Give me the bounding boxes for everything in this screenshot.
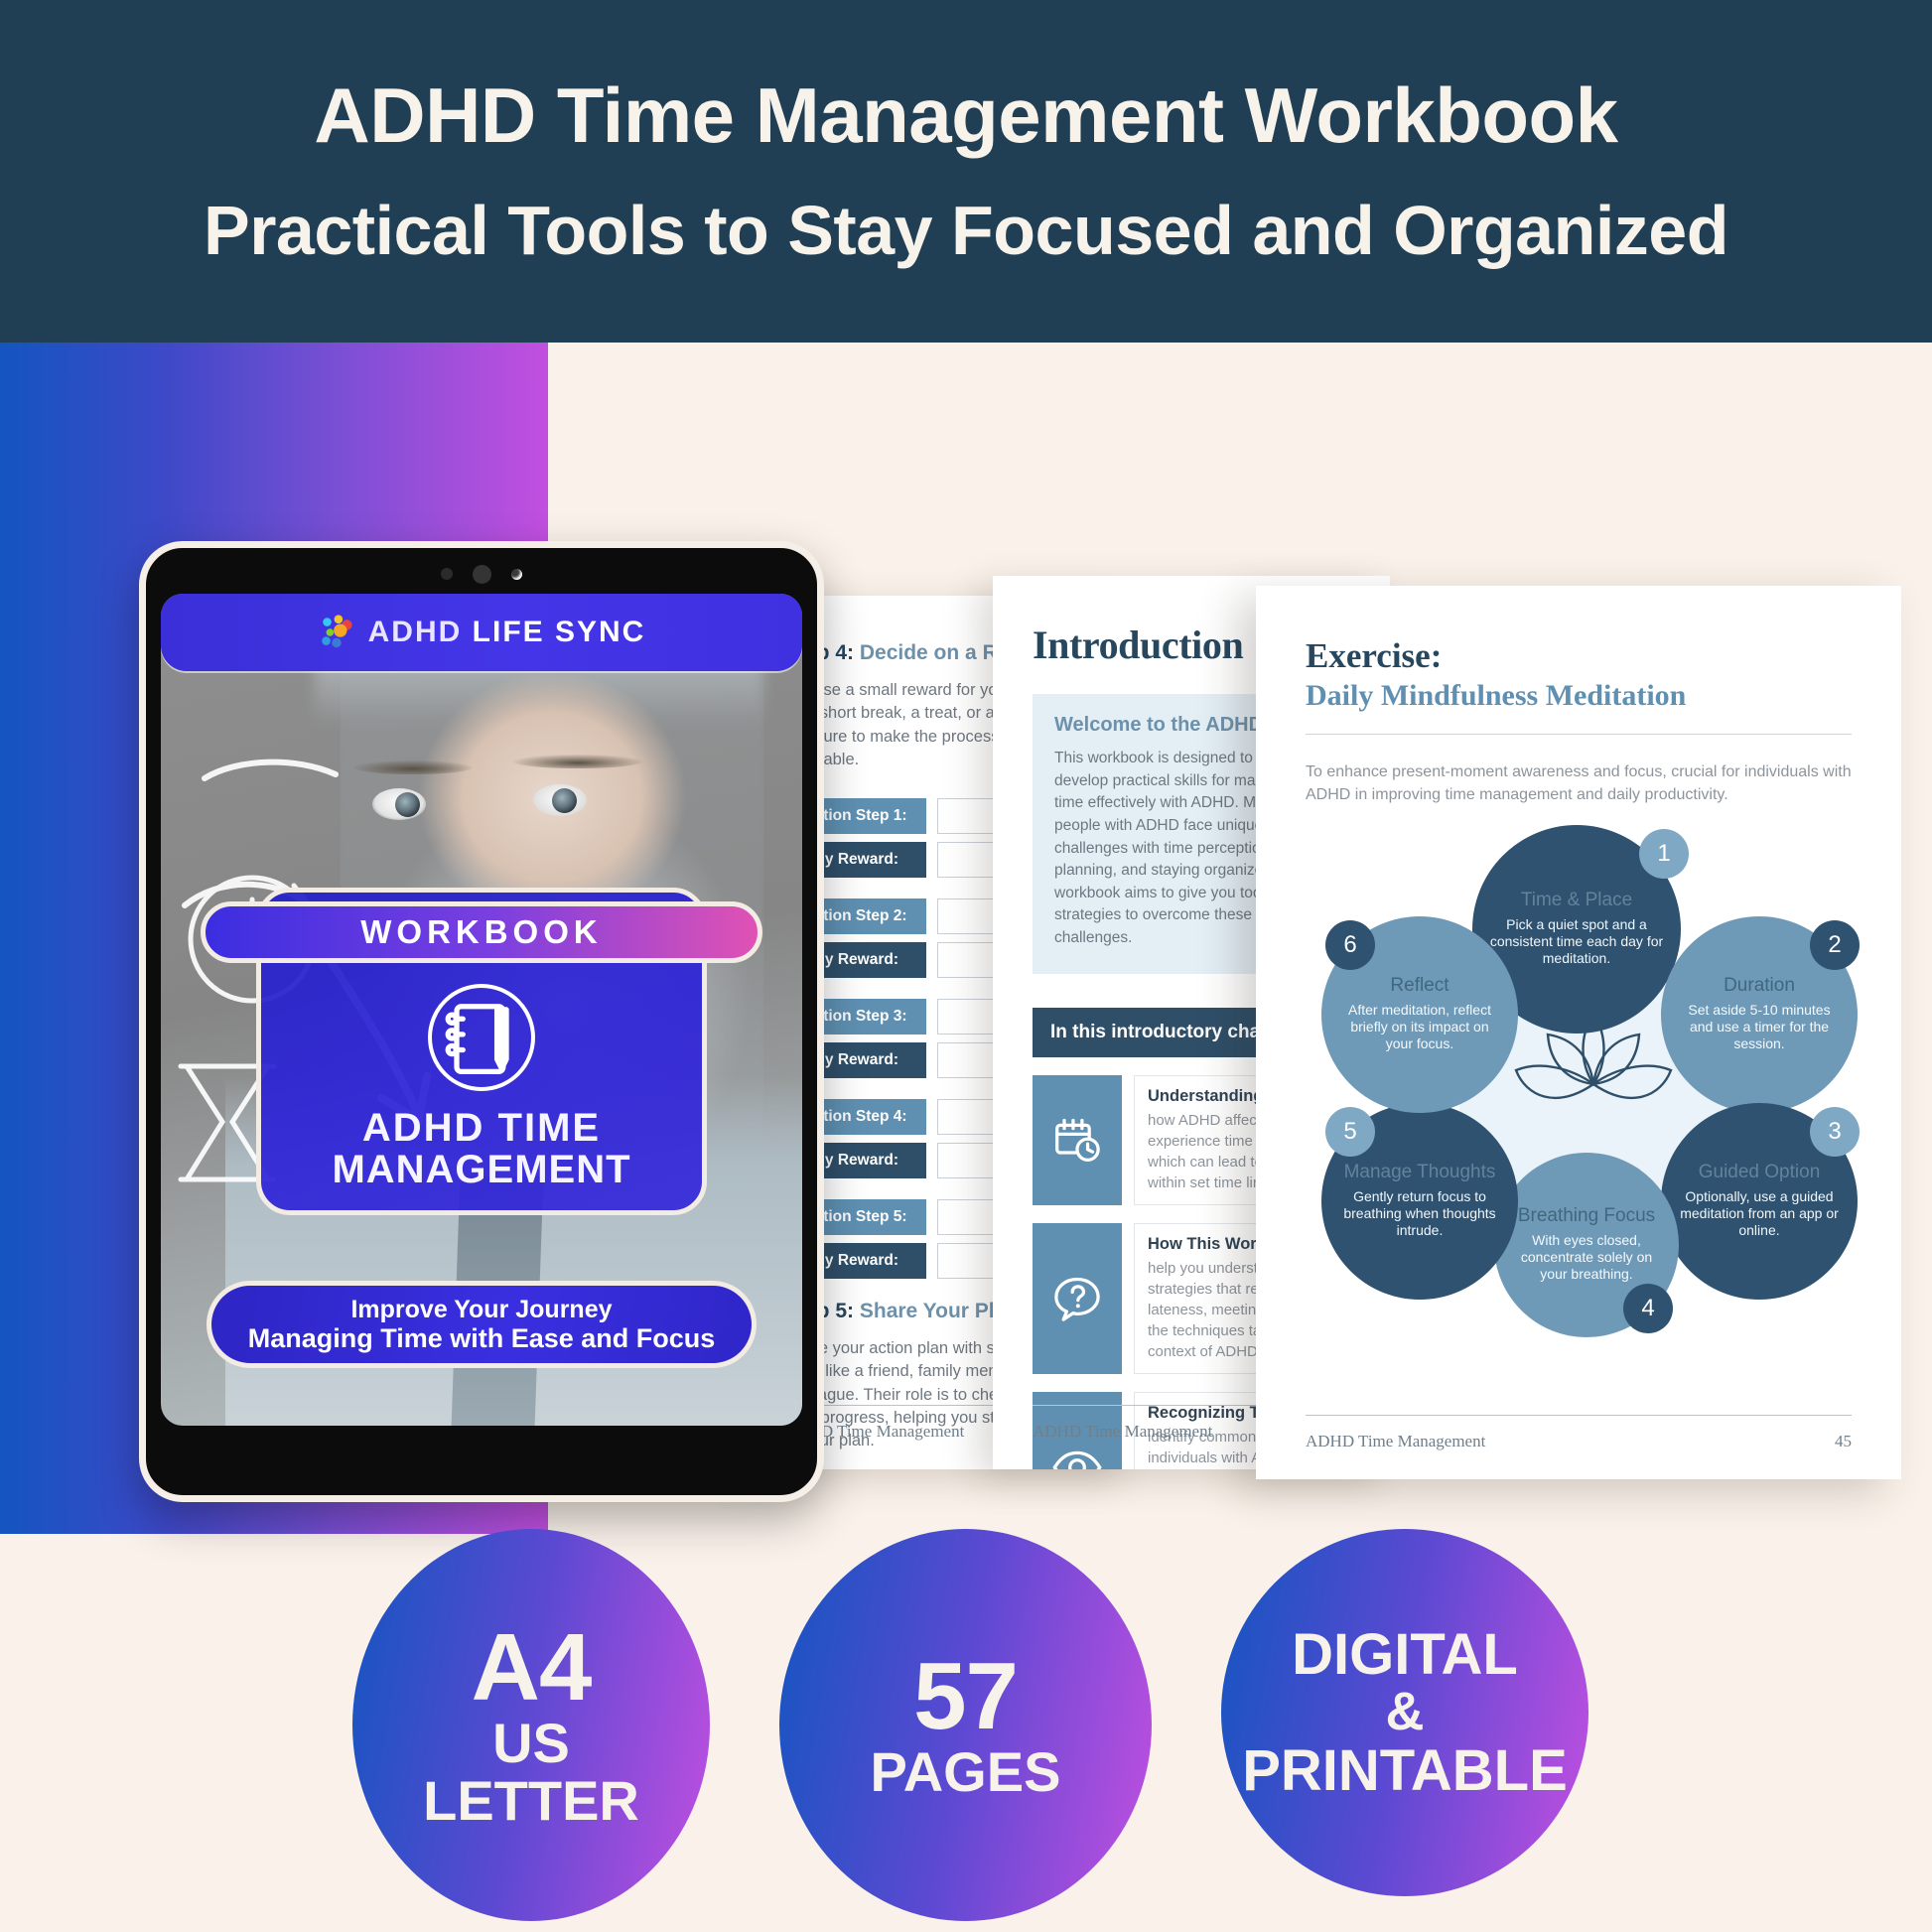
- node-title: Guided Option: [1699, 1163, 1821, 1183]
- calendar-clock-icon: [1033, 1075, 1122, 1205]
- title-divider: [1306, 734, 1852, 736]
- notebook-pen-icon: [428, 984, 535, 1091]
- node-number-badge: 2: [1810, 920, 1860, 970]
- badge-ampersand: &: [1386, 1684, 1425, 1740]
- photo-iris-left: [395, 792, 420, 817]
- header-banner: ADHD Time Management Workbook Practical …: [0, 0, 1932, 343]
- exercise-title: Exercise:: [1306, 637, 1852, 675]
- brand-bar: ADHD LIFE SYNC: [161, 594, 802, 671]
- node-title: Manage Thoughts: [1344, 1163, 1496, 1183]
- node-number-badge: 5: [1325, 1107, 1375, 1157]
- swoosh-doodle-icon: [197, 749, 345, 798]
- camera-lens-icon: [473, 565, 491, 584]
- page-footer-label: ADHD Time Management: [1033, 1422, 1212, 1442]
- badge-format-us: US: [492, 1715, 570, 1772]
- node-body: After meditation, reflect briefly on its…: [1337, 1002, 1502, 1052]
- workbook-label: WORKBOOK: [360, 913, 602, 951]
- footer-divider: [1306, 1415, 1852, 1417]
- badge-page-number: 57: [913, 1650, 1018, 1743]
- node-body: Optionally, use a guided meditation from…: [1677, 1188, 1842, 1239]
- page-footer-label: ADHD Time Management: [1306, 1432, 1485, 1451]
- node-body: Set aside 5-10 minutes and use a timer f…: [1677, 1002, 1842, 1052]
- badge-format-letter: LETTER: [423, 1772, 639, 1830]
- exercise-intro: To enhance present-moment awareness and …: [1306, 760, 1852, 806]
- node-body: Pick a quiet spot and a consistent time …: [1488, 916, 1665, 967]
- node-number-badge: 1: [1639, 829, 1689, 879]
- badge-format-size: A4: [472, 1621, 592, 1715]
- indicator-dot-icon: [511, 569, 522, 580]
- badge-delivery: DIGITAL & PRINTABLE: [1221, 1529, 1588, 1896]
- cover-tagline-pill: Improve Your Journey Managing Time with …: [207, 1281, 757, 1368]
- badge-format: A4 US LETTER: [352, 1529, 710, 1921]
- badge-pages-label: PAGES: [871, 1743, 1061, 1801]
- page-title: ADHD Time Management Workbook: [314, 75, 1617, 157]
- tablet-screen: ADHD LIFE SYNC ADHD TIME MANAGEMENT: [161, 594, 802, 1426]
- photo-iris-right: [552, 788, 577, 813]
- node-title: Time & Place: [1521, 891, 1632, 911]
- tablet-mockup: ADHD LIFE SYNC ADHD TIME MANAGEMENT: [139, 541, 824, 1502]
- node-title: Reflect: [1390, 976, 1449, 997]
- tagline-line2: Managing Time with Ease and Focus: [248, 1323, 716, 1353]
- exercise-subtitle: Daily Mindfulness Meditation: [1306, 679, 1852, 712]
- product-listing-image: ADHD Time Management Workbook Practical …: [0, 0, 1932, 1932]
- brand-name-suffix: LIFE SYNC: [473, 616, 646, 648]
- brand-name: ADHD LIFE SYNC: [368, 616, 646, 649]
- sensor-dot-icon: [441, 568, 453, 580]
- workbook-badge: WORKBOOK: [201, 901, 762, 963]
- tagline-line1: Improve Your Journey: [350, 1296, 612, 1323]
- node-number-badge: 4: [1623, 1284, 1673, 1333]
- photo-brow-right: [513, 755, 642, 768]
- photo-brow-left: [353, 760, 473, 774]
- page-subtitle: Practical Tools to Stay Focused and Orga…: [204, 195, 1728, 268]
- node-title: Breathing Focus: [1518, 1206, 1655, 1227]
- node-number-badge: 3: [1810, 1107, 1860, 1157]
- badge-printable-label: PRINTABLE: [1242, 1741, 1568, 1800]
- brand-logo-icon: [318, 614, 355, 651]
- node-body: Gently return focus to breathing when th…: [1337, 1188, 1502, 1239]
- meditation-cycle-diagram: Time & Place Pick a quiet spot and a con…: [1306, 825, 1881, 1341]
- badge-page-count: 57 PAGES: [779, 1529, 1152, 1921]
- badge-digital-label: DIGITAL: [1292, 1625, 1518, 1684]
- question-bubble-icon: [1033, 1223, 1122, 1374]
- page-number: 45: [1835, 1432, 1852, 1451]
- brand-name-prefix: ADHD: [368, 616, 463, 648]
- node-number-badge: 6: [1325, 920, 1375, 970]
- cover-title-line2: MANAGEMENT: [332, 1149, 630, 1190]
- node-title: Duration: [1724, 976, 1795, 997]
- document-page-exercise: Exercise: Daily Mindfulness Meditation T…: [1256, 586, 1901, 1479]
- cover-title-line1: ADHD TIME: [362, 1107, 601, 1149]
- node-body: With eyes closed, concentrate solely on …: [1510, 1232, 1663, 1283]
- tablet-camera-row: [146, 562, 817, 586]
